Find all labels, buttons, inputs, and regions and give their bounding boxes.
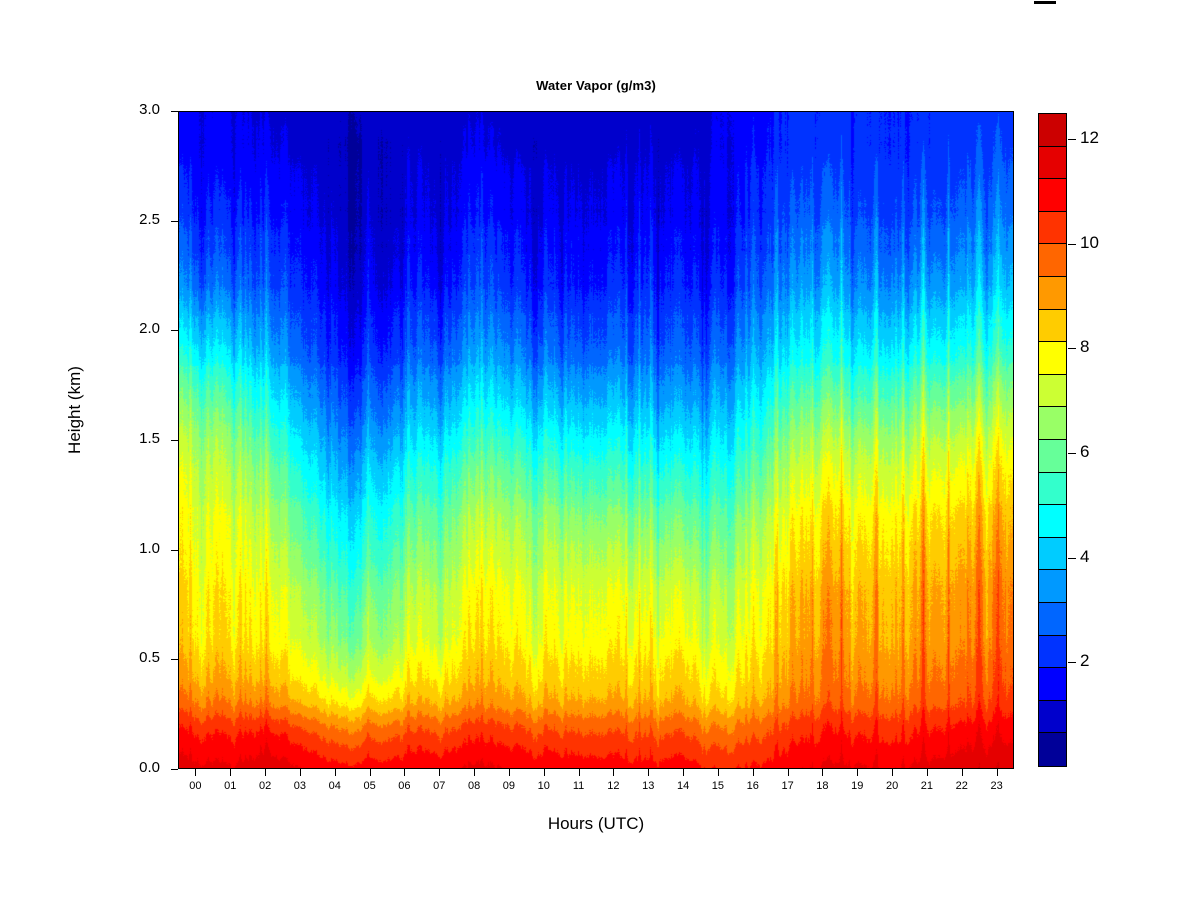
colorbar-tick-label: 4 [1080, 547, 1089, 567]
colorbar-tick [1068, 244, 1076, 245]
x-axis-tick [579, 769, 580, 776]
x-axis-tick-label: 17 [768, 780, 808, 792]
x-axis-tick-label: 04 [315, 780, 355, 792]
colorbar-tick-label: 8 [1080, 337, 1089, 357]
colorbar-cell [1039, 375, 1066, 408]
x-axis-tick-label: 10 [524, 780, 564, 792]
x-axis-tick [404, 769, 405, 776]
y-axis-tick-label: 3.0 [0, 101, 160, 118]
x-axis-tick-label: 02 [245, 780, 285, 792]
colorbar-cell [1039, 244, 1066, 277]
x-axis-tick [195, 769, 196, 776]
x-axis-tick [718, 769, 719, 776]
y-axis-title: Height (km) [65, 310, 85, 510]
colorbar-tick [1068, 558, 1076, 559]
water-vapor-figure: Water Vapor (g/m3) 0.00.51.01.52.02.53.0… [0, 0, 1200, 900]
y-axis-tick-label: 2.5 [0, 211, 160, 228]
x-axis-tick [857, 769, 858, 776]
y-axis-tick [171, 440, 178, 441]
x-axis-tick [370, 769, 371, 776]
colorbar-cell [1039, 407, 1066, 440]
x-axis-tick [962, 769, 963, 776]
colorbar-tick-label: 10 [1080, 233, 1099, 253]
x-axis-tick-label: 23 [977, 780, 1017, 792]
x-axis-tick [822, 769, 823, 776]
page-title: Water Vapor (g/m3) [178, 78, 1014, 93]
x-axis-tick-label: 18 [802, 780, 842, 792]
colorbar-cell [1039, 505, 1066, 538]
x-axis-title: Hours (UTC) [178, 814, 1014, 834]
colorbar-tick-label: 12 [1080, 128, 1099, 148]
x-axis-tick-label: 21 [907, 780, 947, 792]
colorbar-cell [1039, 277, 1066, 310]
x-axis-tick [474, 769, 475, 776]
x-axis-tick-label: 11 [559, 780, 599, 792]
x-axis-tick-label: 06 [384, 780, 424, 792]
colorbar-tick [1068, 453, 1076, 454]
y-axis-tick [171, 221, 178, 222]
heatmap-canvas[interactable] [179, 112, 1013, 768]
colorbar-cell [1039, 570, 1066, 603]
colorbar-cell [1039, 733, 1066, 766]
x-axis-tick [997, 769, 998, 776]
colorbar-cell [1039, 473, 1066, 506]
colorbar-cell [1039, 114, 1066, 147]
top-rule-artifact [1034, 1, 1056, 4]
y-axis-tick [171, 769, 178, 770]
colorbar-cell [1039, 636, 1066, 669]
x-axis-tick-label: 20 [872, 780, 912, 792]
colorbar-cell [1039, 310, 1066, 343]
x-axis-tick-label: 16 [733, 780, 773, 792]
x-axis-tick [509, 769, 510, 776]
x-axis-tick-label: 00 [175, 780, 215, 792]
y-axis-tick [171, 550, 178, 551]
colorbar-cell [1039, 538, 1066, 571]
x-axis-tick-label: 14 [663, 780, 703, 792]
x-axis-tick-label: 13 [628, 780, 668, 792]
x-axis-tick [230, 769, 231, 776]
x-axis-tick [788, 769, 789, 776]
y-axis-tick [171, 330, 178, 331]
colorbar-cell [1039, 701, 1066, 734]
x-axis-tick-label: 19 [837, 780, 877, 792]
colorbar-cell [1039, 440, 1066, 473]
colorbar-tick [1068, 348, 1076, 349]
x-axis-tick-label: 07 [419, 780, 459, 792]
x-axis-tick [648, 769, 649, 776]
x-axis-tick-label: 08 [454, 780, 494, 792]
colorbar-tick-label: 2 [1080, 651, 1089, 671]
x-axis-tick [335, 769, 336, 776]
x-axis-tick-label: 15 [698, 780, 738, 792]
colorbar[interactable] [1038, 113, 1067, 767]
heatmap-plot-area[interactable] [178, 111, 1014, 769]
x-axis-tick [683, 769, 684, 776]
y-axis-tick [171, 111, 178, 112]
x-axis-tick-label: 03 [280, 780, 320, 792]
x-axis-tick [439, 769, 440, 776]
x-axis-tick-label: 09 [489, 780, 529, 792]
colorbar-cell [1039, 179, 1066, 212]
x-axis-tick [544, 769, 545, 776]
colorbar-tick [1068, 662, 1076, 663]
colorbar-cell [1039, 603, 1066, 636]
x-axis-tick [892, 769, 893, 776]
y-axis-tick [171, 659, 178, 660]
x-axis-tick [265, 769, 266, 776]
y-axis-tick-label: 0.5 [0, 649, 160, 666]
colorbar-tick [1068, 139, 1076, 140]
x-axis-tick-label: 05 [350, 780, 390, 792]
x-axis-tick [927, 769, 928, 776]
x-axis-tick-label: 22 [942, 780, 982, 792]
colorbar-cell [1039, 342, 1066, 375]
colorbar-tick-label: 6 [1080, 442, 1089, 462]
y-axis-tick-label: 1.0 [0, 540, 160, 557]
y-axis-tick-label: 0.0 [0, 759, 160, 776]
x-axis-tick [613, 769, 614, 776]
colorbar-cell [1039, 147, 1066, 180]
x-axis-tick [300, 769, 301, 776]
x-axis-tick-label: 01 [210, 780, 250, 792]
x-axis-tick [753, 769, 754, 776]
colorbar-cell [1039, 212, 1066, 245]
x-axis-tick-label: 12 [593, 780, 633, 792]
colorbar-cell [1039, 668, 1066, 701]
